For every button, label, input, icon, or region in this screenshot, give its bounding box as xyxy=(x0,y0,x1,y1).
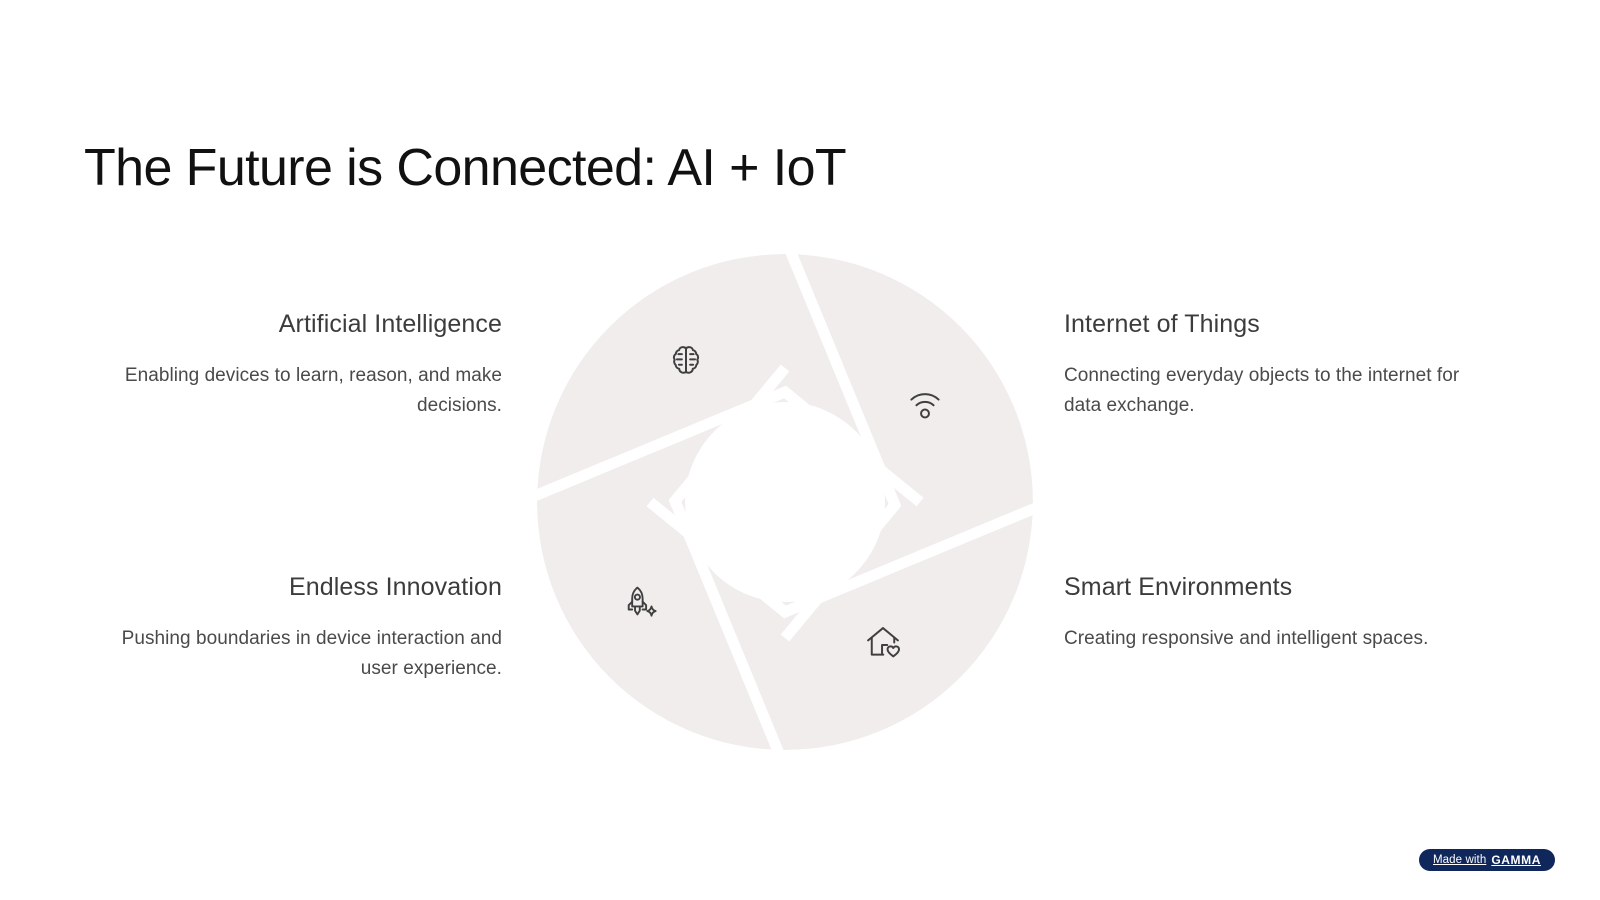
made-with-gamma-badge[interactable]: Made with GAMMA xyxy=(1419,849,1555,871)
feature-artificial-intelligence: Artificial Intelligence Enabling devices… xyxy=(82,308,502,422)
slide-canvas: The Future is Connected: AI + IoT xyxy=(0,0,1600,900)
feature-description: Enabling devices to learn, reason, and m… xyxy=(82,361,502,423)
feature-endless-innovation: Endless Innovation Pushing boundaries in… xyxy=(82,571,502,685)
feature-smart-environments: Smart Environments Creating responsive a… xyxy=(1064,571,1484,654)
feature-description: Connecting everyday objects to the inter… xyxy=(1064,361,1484,423)
feature-description: Pushing boundaries in device interaction… xyxy=(82,624,502,686)
page-title: The Future is Connected: AI + IoT xyxy=(84,138,846,199)
feature-title: Endless Innovation xyxy=(82,571,502,604)
feature-title: Smart Environments xyxy=(1064,571,1484,604)
badge-made-with-label: Made with xyxy=(1433,854,1486,866)
feature-title: Internet of Things xyxy=(1064,308,1484,341)
badge-brand-label: GAMMA xyxy=(1491,853,1541,867)
brain-icon xyxy=(664,338,708,382)
feature-title: Artificial Intelligence xyxy=(82,308,502,341)
feature-internet-of-things: Internet of Things Connecting everyday o… xyxy=(1064,308,1484,422)
rocket-sparkle-icon xyxy=(620,581,664,625)
cycle-donut-diagram xyxy=(520,238,1050,768)
feature-description: Creating responsive and intelligent spac… xyxy=(1064,624,1484,655)
donut-ring xyxy=(537,254,1033,750)
home-heart-icon xyxy=(861,620,905,664)
wifi-icon xyxy=(903,382,947,426)
